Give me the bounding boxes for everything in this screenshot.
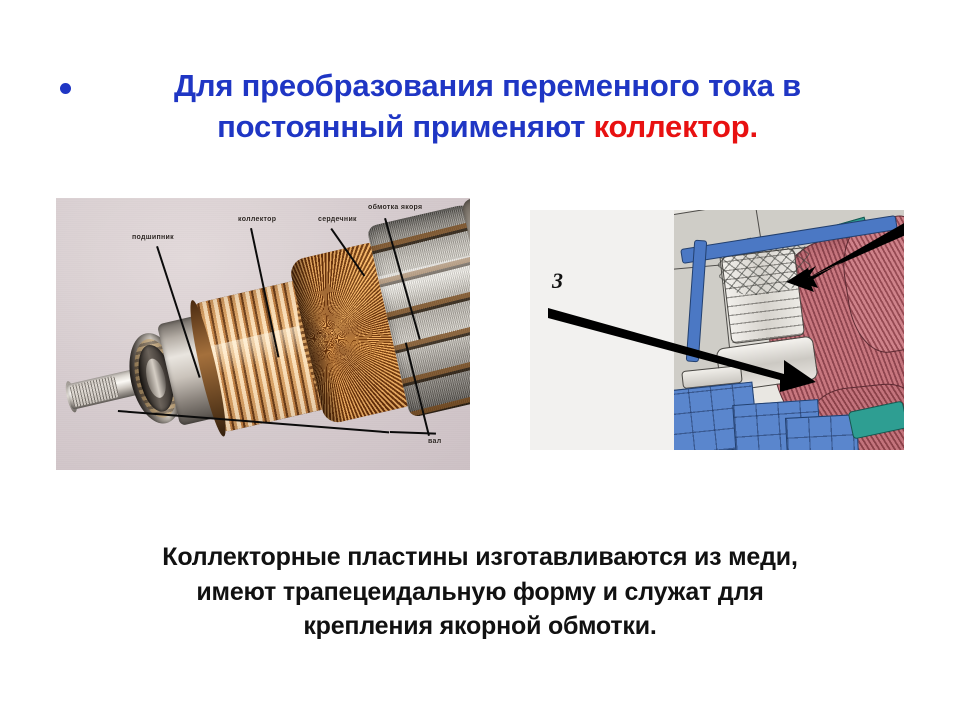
slide-canvas: Для преобразования переменного тока в по…	[0, 0, 960, 720]
title-line-2-prefix: постоянный применяют	[217, 109, 593, 144]
bullet-point-icon	[60, 83, 71, 94]
page-title: Для преобразования переменного тока в по…	[85, 66, 900, 148]
title-line-1: Для преобразования переменного тока в	[174, 68, 801, 103]
title-accent-word: коллектор.	[594, 109, 758, 144]
label-bearing: подшипник	[132, 234, 174, 241]
body-paragraph: Коллекторные пластины изготавливаются из…	[90, 540, 870, 644]
body-line-2: имеют трапецеидальную форму и служат для	[196, 578, 763, 606]
label-collector: коллектор	[238, 216, 276, 223]
pointer-arrow-main	[548, 296, 838, 406]
pointer-arrow-secondary	[778, 222, 904, 302]
figures-row: подшипник коллектор сердечник обмотка як…	[0, 196, 960, 476]
label-shaft: вал	[428, 438, 441, 445]
commutator-diagram: 3	[530, 210, 904, 450]
body-line-3: крепления якорной обмотки.	[303, 612, 656, 640]
body-line-1: Коллекторные пластины изготавливаются из…	[162, 543, 797, 571]
blue-base-block	[785, 414, 859, 450]
callout-number-3: 3	[552, 268, 563, 294]
slide-title-block: Для преобразования переменного тока в по…	[60, 66, 900, 148]
blue-base-grid	[786, 415, 858, 450]
label-winding: обмотка якоря	[368, 204, 422, 211]
label-core: сердечник	[318, 216, 357, 223]
armature-photo: подшипник коллектор сердечник обмотка як…	[56, 198, 470, 470]
